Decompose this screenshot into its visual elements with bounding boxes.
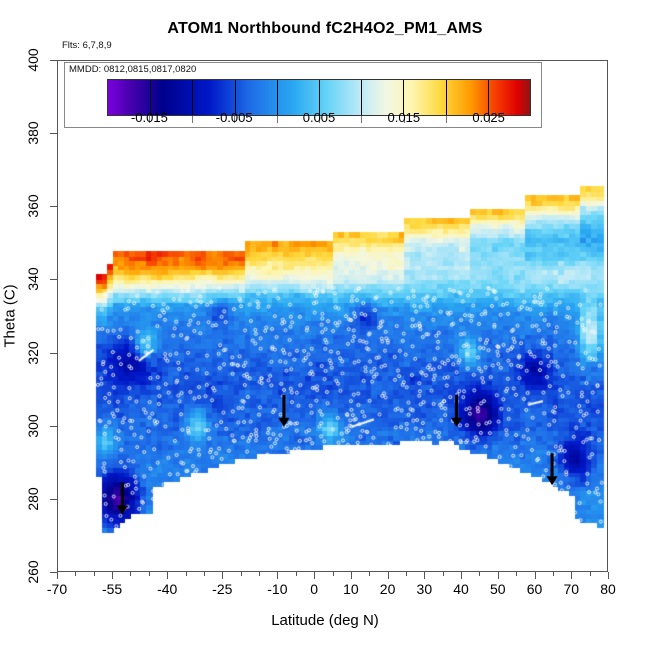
annotation-mmdd: MMDD: 0812,0815,0817,0820 — [69, 64, 196, 75]
colorbar-tick — [446, 116, 447, 123]
x-tick-label: 30 — [417, 581, 433, 597]
arrow-marker-layer — [58, 61, 607, 571]
annotation-flights: Flts: 6,7,8,9 — [62, 40, 112, 51]
x-tick — [277, 572, 278, 579]
down-arrow-marker — [547, 453, 558, 485]
x-tick-label: 70 — [563, 581, 579, 597]
x-tick — [241, 572, 242, 576]
colorbar-divider — [446, 80, 447, 115]
x-tick — [314, 572, 315, 579]
x-tick — [259, 572, 260, 576]
colorbar-tick-label: -0.015 — [131, 110, 168, 125]
x-tick — [535, 572, 536, 579]
x-tick — [571, 572, 572, 579]
x-tick-label: -25 — [212, 581, 232, 597]
x-tick — [461, 572, 462, 579]
colorbar-divider — [192, 80, 193, 115]
x-tick — [424, 572, 425, 579]
x-tick — [296, 572, 297, 576]
y-tick-label: 260 — [25, 560, 41, 583]
colorbar-tick-label: 0.015 — [388, 110, 421, 125]
heatmap-data-area — [58, 61, 607, 571]
x-tick — [130, 572, 131, 576]
x-tick-label: 10 — [343, 581, 359, 597]
x-tick — [443, 572, 444, 576]
y-tick-label: 380 — [25, 121, 41, 144]
x-tick — [608, 572, 609, 579]
colorbar-tick — [277, 116, 278, 123]
x-tick — [553, 572, 554, 576]
y-tick-label: 320 — [25, 341, 41, 364]
x-axis-title: Latitude (deg N) — [0, 612, 650, 629]
x-tick-label: -10 — [267, 581, 287, 597]
x-tick — [498, 572, 499, 579]
y-tick — [50, 206, 57, 207]
y-tick — [50, 60, 57, 61]
x-tick — [94, 572, 95, 576]
x-tick-label: 40 — [453, 581, 469, 597]
x-tick-label: 50 — [490, 581, 506, 597]
x-tick — [204, 572, 205, 576]
colorbar-panel: MMDD: 0812,0815,0817,0820 -0.015-0.0050.… — [64, 62, 542, 128]
y-tick-label: 360 — [25, 195, 41, 218]
plot-frame — [57, 60, 608, 572]
x-tick — [186, 572, 187, 576]
page-title: ATOM1 Northbound fC2H4O2_PM1_AMS — [0, 20, 650, 38]
x-tick — [112, 572, 113, 579]
x-tick-label: -40 — [157, 581, 177, 597]
x-tick-label: -70 — [47, 581, 67, 597]
x-tick — [167, 572, 168, 579]
colorbar-tick — [361, 116, 362, 123]
figure-canvas: ATOM1 Northbound fC2H4O2_PM1_AMS Flts: 6… — [0, 0, 650, 650]
x-tick-label: 60 — [527, 581, 543, 597]
x-tick — [516, 572, 517, 576]
x-tick — [590, 572, 591, 576]
down-arrow-marker — [117, 482, 128, 514]
y-axis-title: Theta (C) — [2, 284, 19, 347]
x-tick-label: 0 — [310, 581, 318, 597]
y-tick-label: 400 — [25, 48, 41, 71]
colorbar-tick-label: 0.025 — [472, 110, 505, 125]
x-tick — [388, 572, 389, 579]
y-tick — [50, 133, 57, 134]
down-arrow-marker — [278, 395, 289, 427]
colorbar-divider — [277, 80, 278, 115]
y-tick — [50, 572, 57, 573]
x-tick — [333, 572, 334, 576]
x-tick — [75, 572, 76, 576]
y-tick — [50, 353, 57, 354]
x-tick — [351, 572, 352, 579]
x-tick-label: 20 — [380, 581, 396, 597]
colorbar-tick-label: 0.005 — [303, 110, 336, 125]
x-tick — [369, 572, 370, 576]
y-tick — [50, 426, 57, 427]
x-tick — [149, 572, 150, 576]
y-tick-label: 300 — [25, 414, 41, 437]
colorbar-divider — [361, 80, 362, 115]
colorbar-tick-label: -0.005 — [216, 110, 253, 125]
x-tick — [479, 572, 480, 576]
x-tick-label: -55 — [102, 581, 122, 597]
y-tick — [50, 499, 57, 500]
x-tick — [222, 572, 223, 579]
y-tick-label: 280 — [25, 487, 41, 510]
colorbar-tick — [192, 116, 193, 123]
y-tick-label: 340 — [25, 268, 41, 291]
y-tick — [50, 279, 57, 280]
x-tick — [57, 572, 58, 579]
down-arrow-marker — [451, 395, 462, 427]
x-tick-label: 80 — [600, 581, 616, 597]
x-tick — [406, 572, 407, 576]
